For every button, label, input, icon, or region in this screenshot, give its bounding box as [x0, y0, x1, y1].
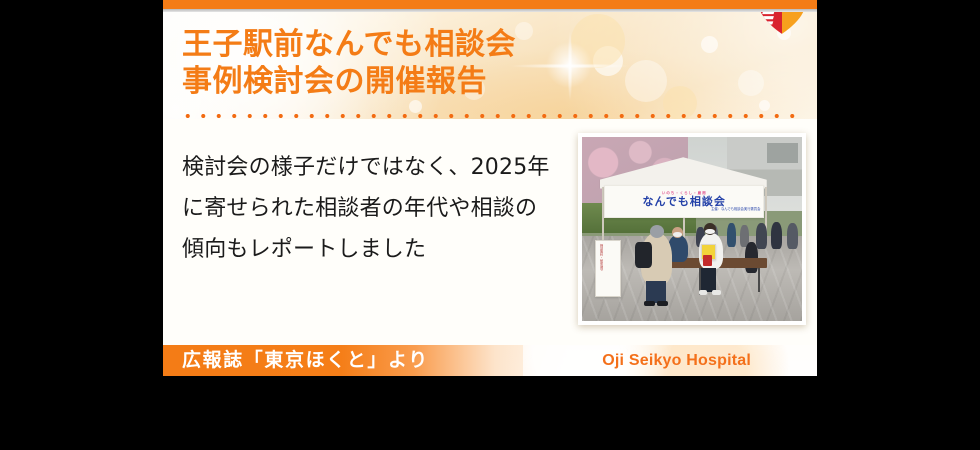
- photo-standing-sign-text: 相談無料・秘密厳守: [600, 244, 604, 292]
- event-photo: いのち・くらし・雇用 なんでも相談会 主催：なんでも相談会実行委員会: [582, 137, 802, 321]
- page-title: 王子駅前なんでも相談会 事例検討会の開催報告: [182, 26, 516, 100]
- hospital-name: Oji Seikyo Hospital: [602, 345, 751, 376]
- photo-bystander: [787, 223, 798, 249]
- dotted-divider: [180, 113, 800, 119]
- photo-bystander: [756, 223, 767, 249]
- card-body: 検討会の様子だけではなく、2025年 に寄せられた相談者の年代や相談の 傾向もレ…: [163, 119, 817, 345]
- bokeh-circle: [759, 100, 770, 111]
- photo-event-banner: いのち・くらし・雇用 なんでも相談会 主催：なんでも相談会実行委員会: [604, 185, 764, 218]
- footer-source-label: 広報誌「東京ほくと」より: [182, 345, 429, 376]
- photo-visitor-legs: [646, 281, 666, 303]
- photo-shoe: [644, 301, 655, 307]
- photo-bystander: [727, 223, 736, 247]
- sparkle-icon: [569, 65, 571, 67]
- screenshot-stage: 王子駅前なんでも相談会 事例検討会の開催報告 検討会の様子だけではなく、2025…: [0, 0, 980, 450]
- photo-red-box: [703, 255, 712, 266]
- bokeh-circle: [409, 100, 422, 113]
- photo-shoe: [699, 290, 708, 296]
- event-photo-frame: いのち・くらし・雇用 なんでも相談会 主催：なんでも相談会実行委員会: [578, 133, 806, 325]
- photo-shoe: [712, 290, 721, 296]
- photo-building-top: [767, 143, 798, 163]
- photo-table-leg: [758, 268, 760, 292]
- photo-staff-legs: [701, 268, 716, 292]
- banner-main-line: なんでも相談会: [642, 196, 725, 208]
- hero-banner: 王子駅前なんでも相談会 事例検討会の開催報告: [163, 12, 817, 119]
- photo-staff-mask: [673, 232, 682, 237]
- photo-bystander: [771, 222, 782, 250]
- banner-sub-line: 主催：なんでも相談会実行委員会: [711, 208, 760, 211]
- bokeh-circle: [625, 60, 667, 102]
- bokeh-circle: [738, 70, 764, 96]
- card-top-divider: [163, 9, 817, 12]
- bokeh-circle: [515, 22, 533, 40]
- card-top-accent-bar: [163, 0, 817, 9]
- report-card: 王子駅前なんでも相談会 事例検討会の開催報告 検討会の様子だけではなく、2025…: [163, 0, 817, 376]
- lede-paragraph: 検討会の様子だけではなく、2025年 に寄せられた相談者の年代や相談の 傾向もレ…: [182, 147, 582, 270]
- bokeh-circle: [701, 36, 718, 53]
- photo-visitor-backpack: [635, 242, 653, 268]
- photo-shoe: [657, 301, 668, 307]
- photo-staff-mask: [705, 229, 715, 234]
- card-footer: 広報誌「東京ほくと」より Oji Seikyo Hospital: [163, 345, 817, 376]
